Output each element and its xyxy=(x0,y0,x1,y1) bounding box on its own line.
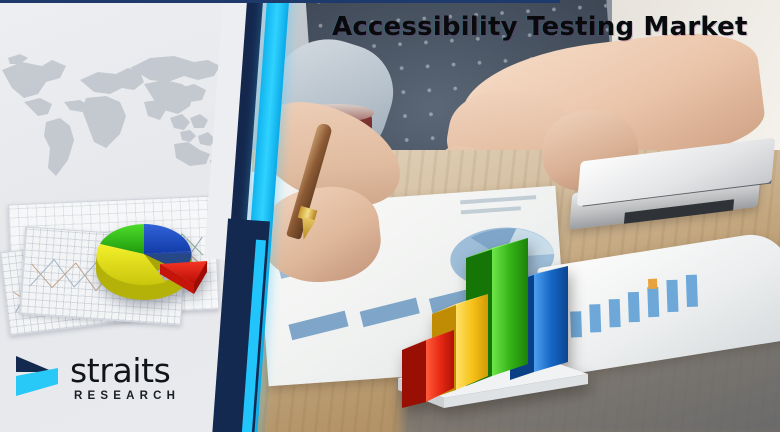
diagonal-divider xyxy=(226,0,356,432)
logo-wordmark: straits xyxy=(70,350,170,392)
bar-chart-3d-object xyxy=(392,212,592,412)
market-report-banner: straits RESEARCH xyxy=(0,0,780,440)
banner-canvas: straits RESEARCH xyxy=(0,0,780,432)
logo-tagline: RESEARCH xyxy=(74,390,180,402)
straits-arrow-icon xyxy=(14,354,66,398)
bottom-white-strip xyxy=(0,432,780,440)
top-rule-divider xyxy=(0,0,560,3)
page-title: Accessibility Testing Market xyxy=(332,12,772,42)
straits-research-logo[interactable]: straits RESEARCH xyxy=(14,350,214,412)
